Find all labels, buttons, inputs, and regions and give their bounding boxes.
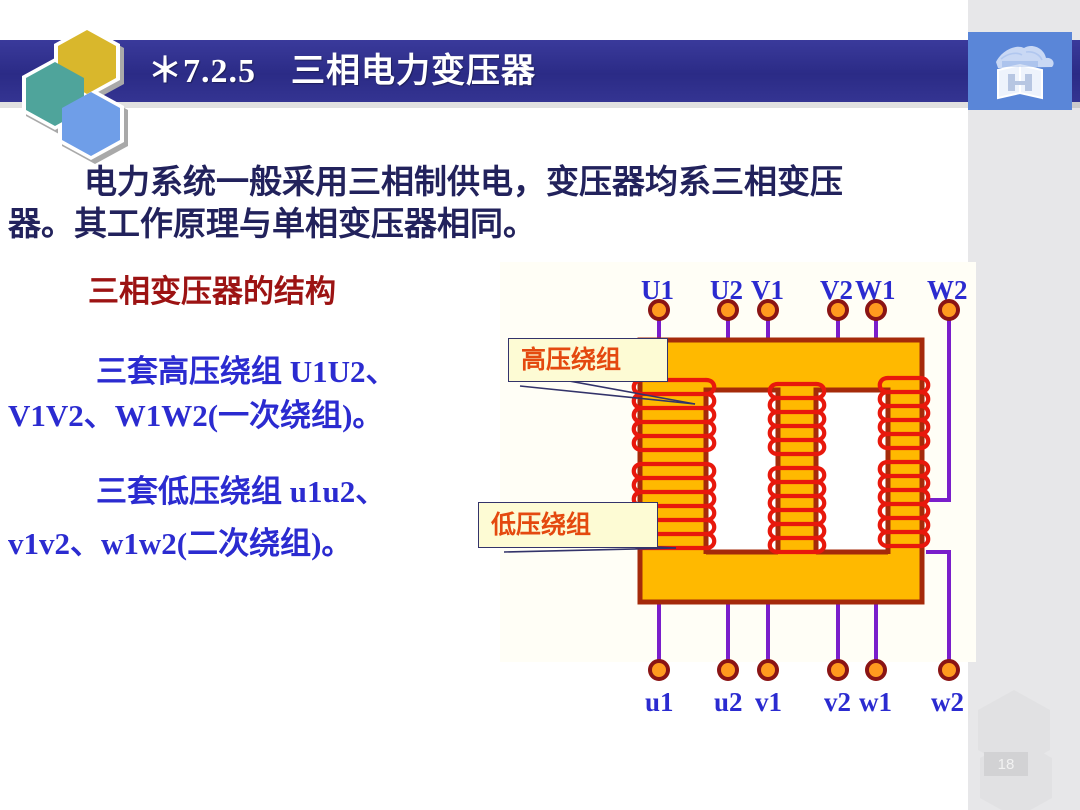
intro-paragraph-line1: 电力系统一般采用三相制供电，变压器均系三相变压: [84, 162, 964, 204]
callout-lv-winding: 低压绕组: [478, 502, 658, 548]
terminal-label-u1: u1: [645, 688, 674, 716]
section-heading: 三相变压器的结构: [88, 272, 336, 312]
terminal-label-u2: u2: [714, 688, 743, 716]
page-title: ＊7.2.5 三相电力变压器: [148, 46, 928, 98]
terminal-label-V2: V2: [820, 276, 853, 304]
terminal-label-V1: V1: [751, 276, 784, 304]
hv-winding-text-line2: V1V2、W1W2(一次绕组)。: [8, 394, 478, 438]
transformer-diagram: [490, 262, 990, 722]
lv-winding-text-line1: 三套低压绕组 u1u2、: [96, 470, 516, 514]
terminal-label-v2: v2: [824, 688, 851, 716]
hv-winding-text-line1: 三套高压绕组 U1U2、: [96, 350, 516, 394]
terminal-label-W2: W2: [927, 276, 968, 304]
slide-canvas: ＊7.2.5 三相电力变压器 电力系统一般采用三相制供电，变压器均系三相变压 器…: [0, 0, 1080, 810]
terminal-label-U2: U2: [710, 276, 743, 304]
terminal-label-v1: v1: [755, 688, 782, 716]
terminal-label-W1: W1: [855, 276, 896, 304]
logo-book-icon: [968, 32, 1072, 110]
callout-hv-winding: 高压绕组: [508, 338, 668, 382]
institution-logo: [968, 32, 1072, 110]
coil-right-lv: [880, 462, 929, 546]
terminal-label-w1: w1: [859, 688, 892, 716]
terminal-label-w2: w2: [931, 688, 964, 716]
hexagon-decoration: [18, 26, 136, 134]
terminals-bottom: [650, 661, 958, 679]
coil-mid-lv: [770, 468, 825, 552]
title-bar-shadow: [0, 102, 1080, 108]
page-number: 18: [984, 752, 1028, 776]
intro-paragraph-line2: 器。其工作原理与单相变压器相同。: [8, 204, 888, 246]
lv-winding-text-line2: v1v2、w1w2(二次绕组)。: [8, 522, 478, 566]
transformer-svg: [490, 262, 990, 722]
terminal-label-U1: U1: [641, 276, 674, 304]
